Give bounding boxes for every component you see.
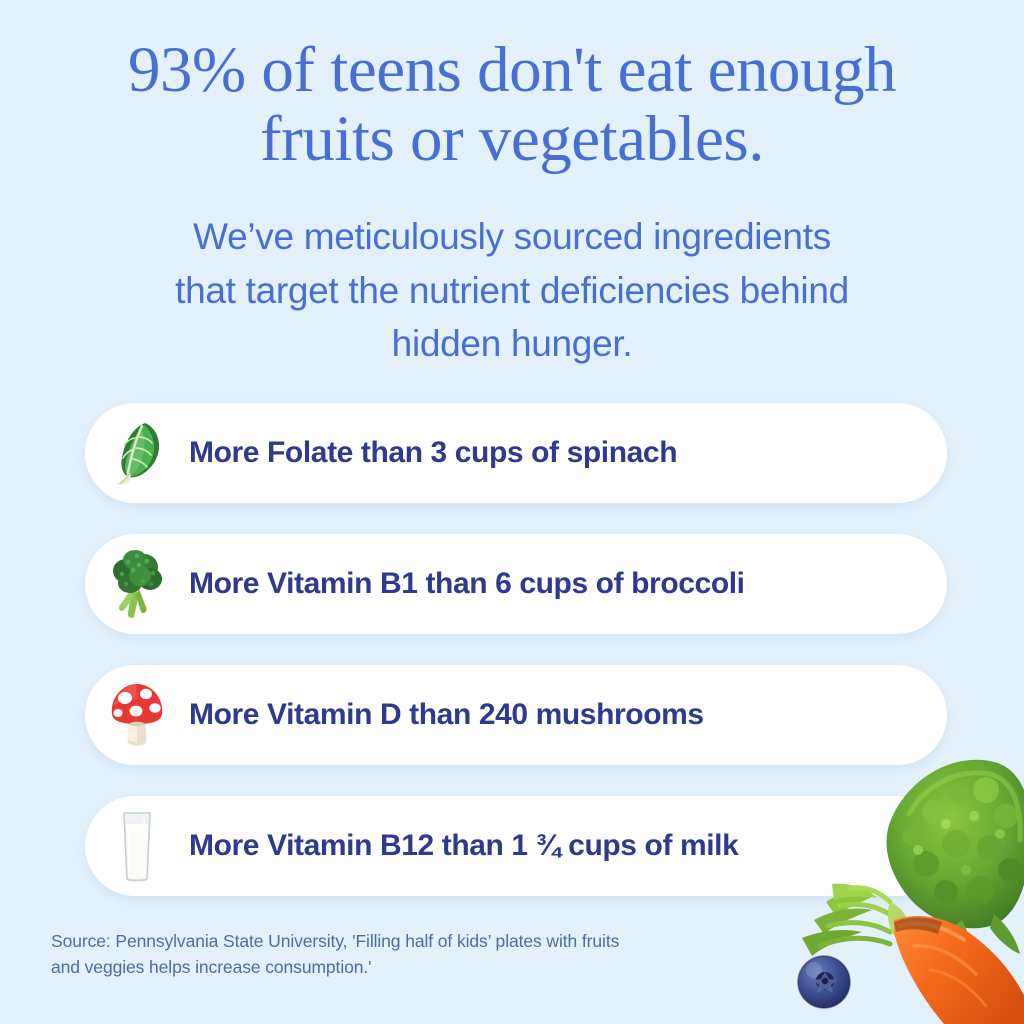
infographic-page: 93% of teens don't eat enough fruits or … <box>0 0 1024 1024</box>
subheadline-line-3: hidden hunger. <box>70 317 954 371</box>
benefit-card-vitamin-d: More Vitamin D than 240 mushrooms <box>85 665 947 765</box>
benefit-card-list: More Folate than 3 cups of spinach <box>85 403 947 927</box>
mushroom-icon <box>85 665 189 765</box>
headline-line-1: 93% of teens don't eat enough <box>26 36 998 105</box>
page-title: 93% of teens don't eat enough fruits or … <box>26 36 998 174</box>
benefit-card-vitamin-b12: More Vitamin B12 than 1 ¾ cups of milk <box>85 796 947 896</box>
source-line-2: and veggies helps increase consumption.' <box>51 954 731 980</box>
source-line-1: Source: Pennsylvania State University, '… <box>51 928 731 954</box>
leafy-green-icon <box>85 403 189 503</box>
benefit-card-label: More Vitamin D than 240 mushrooms <box>189 698 704 732</box>
benefit-card-vitamin-b1: More Vitamin B1 than 6 cups of broccoli <box>85 534 947 634</box>
subheadline: We’ve meticulously sourced ingredients t… <box>70 210 954 371</box>
glass-of-milk-icon <box>85 796 189 896</box>
subheadline-line-2: that target the nutrient deficiencies be… <box>70 264 954 318</box>
source-citation: Source: Pennsylvania State University, '… <box>51 928 731 981</box>
benefit-card-label: More Folate than 3 cups of spinach <box>189 436 677 470</box>
benefit-card-label: More Vitamin B1 than 6 cups of broccoli <box>189 567 745 601</box>
broccoli-icon <box>85 534 189 634</box>
blueberry-photo <box>798 956 850 1008</box>
headline-line-2: fruits or vegetables. <box>26 105 998 174</box>
benefit-card-label: More Vitamin B12 than 1 ¾ cups of milk <box>189 829 738 863</box>
benefit-card-folate: More Folate than 3 cups of spinach <box>85 403 947 503</box>
subheadline-line-1: We’ve meticulously sourced ingredients <box>70 210 954 264</box>
